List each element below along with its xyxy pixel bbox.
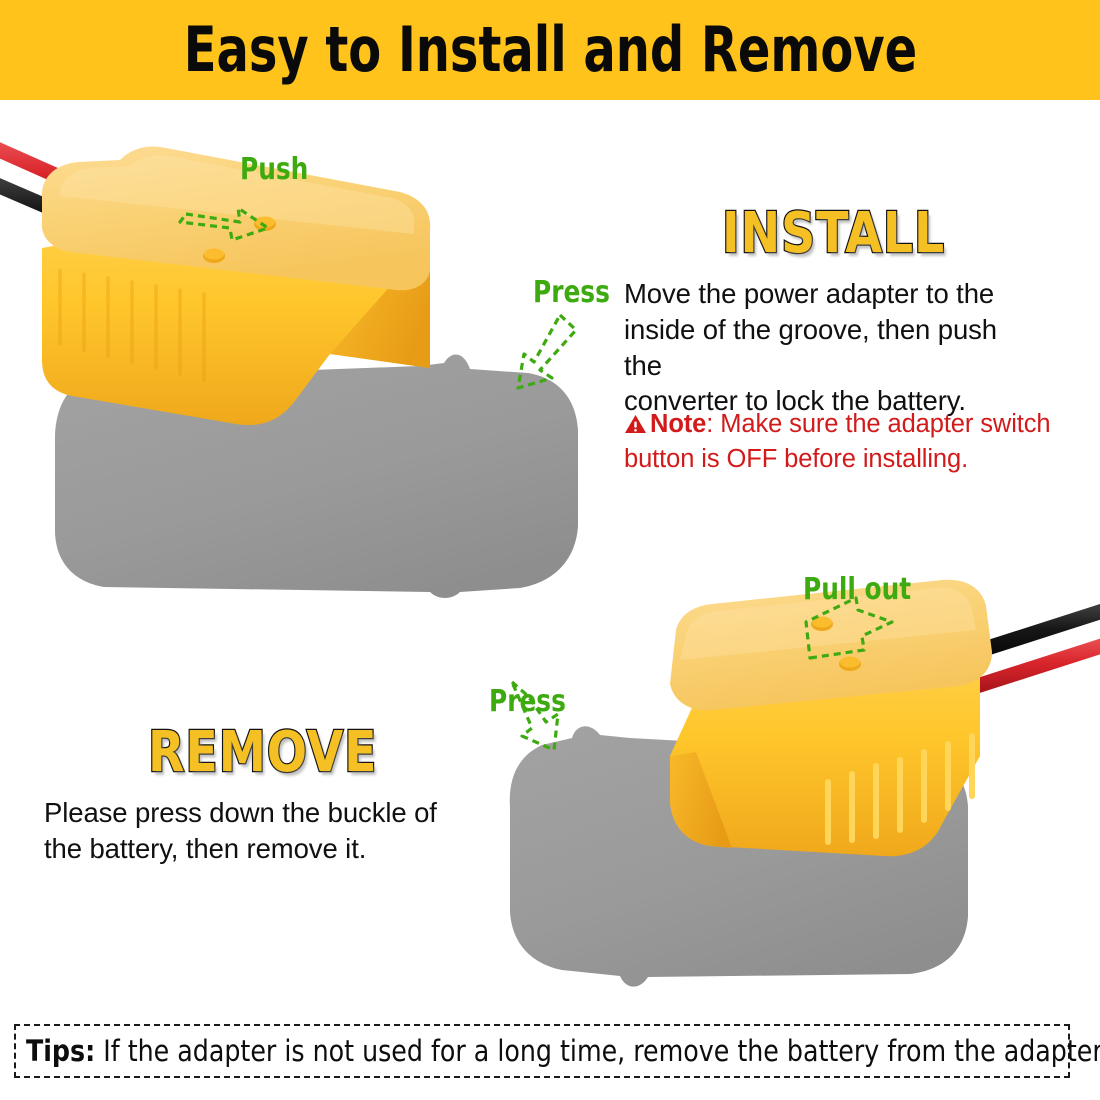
tips-bar: Tips: If the adapter is not used for a l… [14,1024,1070,1078]
tips-label: Tips: [26,1034,95,1068]
note-body: : Make sure the adapter switch [706,410,1050,438]
adapter-body [670,580,992,856]
pull-out-label: Pull out [803,575,911,605]
install-body: Move the power adapter to the inside of … [624,276,1024,419]
remove-title: REMOVE [148,725,377,781]
push-label: Push [240,155,308,185]
remove-body: Please press down the buckle of the batt… [44,795,484,867]
warning-triangle-icon [624,410,647,443]
tips-body: If the adapter is not used for a long ti… [103,1034,1100,1068]
install-title: INSTALL [722,206,945,262]
install-body-line-1: Move the power adapter to the [624,276,1024,312]
page-title: Easy to Install and Remove [183,19,916,81]
note-line-2: button is OFF before installing. [624,443,1064,476]
header-banner: Easy to Install and Remove [0,0,1100,100]
illustration-stage: Push Press INSTALL Move the power adapte… [0,100,1100,1000]
install-body-line-2: inside of the groove, then push the [624,312,1024,384]
remove-body-line-1: Please press down the buckle of [44,795,484,831]
install-product-illustration [0,130,620,600]
tips-text: Tips: If the adapter is not used for a l… [26,1037,1100,1066]
remove-body-line-2: the battery, then remove it. [44,831,484,867]
press-label-install: Press [533,278,610,308]
press-label-remove: Press [489,687,566,717]
remove-product-illustration [480,560,1100,1000]
note-label: Note [650,410,706,438]
install-note: Note: Make sure the adapter switch butto… [624,408,1064,476]
